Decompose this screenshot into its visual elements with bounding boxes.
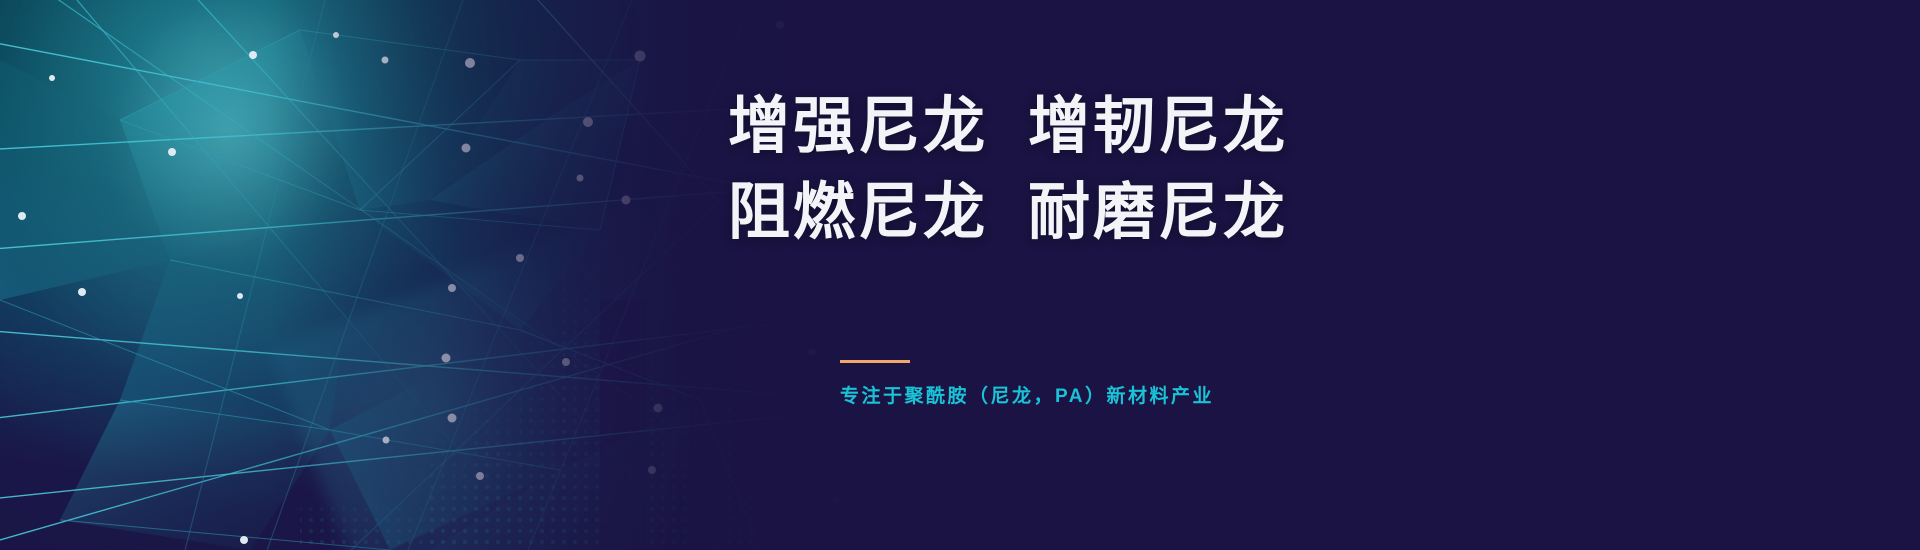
orange-divider xyxy=(840,360,910,363)
headline-line-1: 增强尼龙增韧尼龙 xyxy=(728,84,1488,170)
headline-line-2-part-1: 阻燃尼龙 xyxy=(728,178,988,247)
headline-line-2-part-2: 耐磨尼龙 xyxy=(1028,178,1288,247)
hero-content: 增强尼龙增韧尼龙 阻燃尼龙耐磨尼龙 专注于聚酰胺（尼龙，PA）新材料产业 xyxy=(728,84,1488,408)
headline-line-1-part-2: 增韧尼龙 xyxy=(1028,92,1288,161)
hero-banner: 增强尼龙增韧尼龙 阻燃尼龙耐磨尼龙 专注于聚酰胺（尼龙，PA）新材料产业 xyxy=(0,0,1920,550)
divider-wrap xyxy=(840,360,1488,363)
headline-line-2: 阻燃尼龙耐磨尼龙 xyxy=(728,170,1488,256)
subtitle: 专注于聚酰胺（尼龙，PA）新材料产业 xyxy=(840,381,1488,408)
headline-line-1-part-1: 增强尼龙 xyxy=(728,92,988,161)
